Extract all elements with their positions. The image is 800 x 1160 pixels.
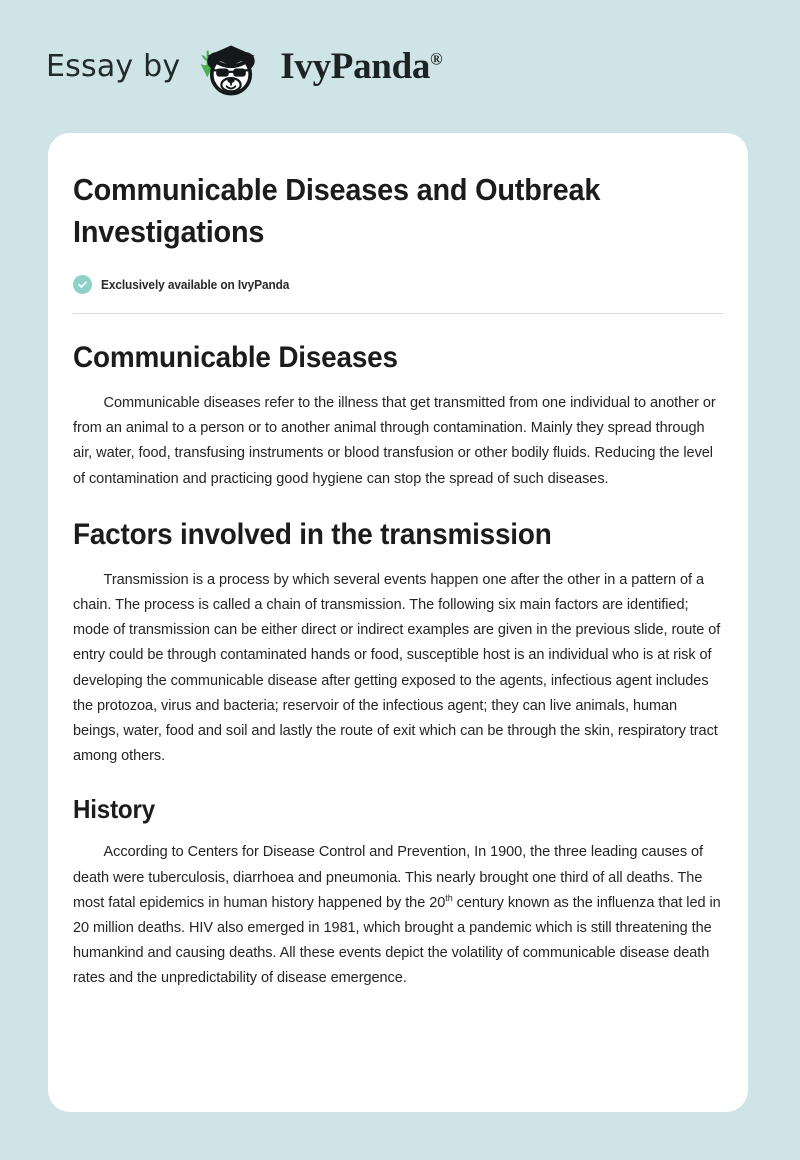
title-divider [73, 313, 723, 314]
registered-trademark-symbol: ® [430, 50, 442, 69]
section-paragraph-communicable-diseases: Communicable diseases refer to the illne… [73, 390, 723, 491]
brand-wordmark: IvyPanda® [280, 48, 442, 85]
exclusive-availability-badge: Exclusively available on IvyPanda [73, 275, 723, 294]
section-heading-factors-involved-in-the-transmission: Factors involved in the transmission [73, 517, 720, 553]
page-header: Essay by [0, 0, 800, 133]
brand-name: IvyPanda [280, 46, 430, 87]
exclusive-availability-label: Exclusively available on IvyPanda [101, 278, 289, 292]
ivypanda-panda-graduate-logo-icon [194, 30, 268, 104]
section-heading-history: History [73, 793, 720, 825]
brand-lockup[interactable]: Essay by [46, 30, 442, 104]
section-paragraph-history: According to Centers for Disease Control… [73, 839, 723, 990]
section-heading-communicable-diseases: Communicable Diseases [73, 340, 720, 376]
check-circle-icon [73, 275, 92, 294]
ordinal-superscript-th: th [445, 892, 452, 903]
page-title: Communicable Diseases and Outbreak Inves… [73, 169, 720, 253]
essay-by-label: Essay by [46, 52, 180, 82]
essay-paper-card: Communicable Diseases and Outbreak Inves… [48, 133, 748, 1112]
section-paragraph-factors-involved-in-the-transmission: Transmission is a process by which sever… [73, 567, 723, 769]
